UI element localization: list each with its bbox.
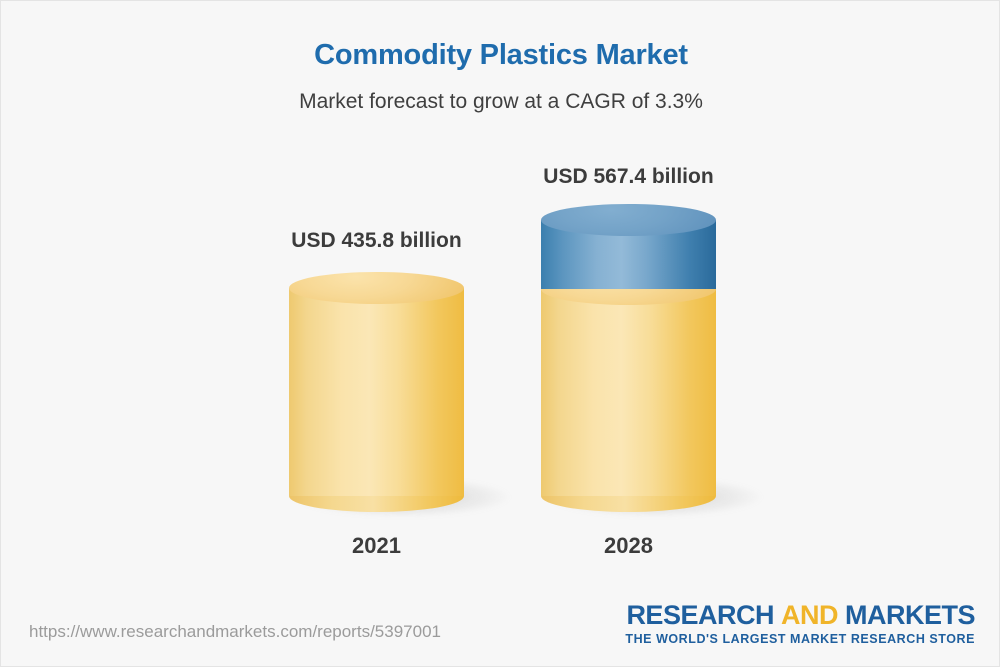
logo-wordmark: RESEARCH AND MARKETS [625,601,975,629]
logo-word-and: AND [781,600,838,630]
logo-word-markets: MARKETS [845,600,975,630]
column-top-ellipse-2028 [541,204,716,236]
column-top-ellipse-2021 [289,272,464,304]
plot-area: USD 435.8 billion 2021 USD 567.4 billion [1,1,1000,591]
report-url[interactable]: https://www.researchandmarkets.com/repor… [29,622,441,642]
logo-tagline: THE WORLD'S LARGEST MARKET RESEARCH STOR… [625,632,975,646]
bar-group-2021: USD 435.8 billion 2021 [289,1,464,591]
chart-canvas: Commodity Plastics Market Market forecas… [0,0,1000,667]
column-body-2021 [289,288,464,496]
logo-word-research: RESEARCH [626,600,774,630]
bar-group-2028: USD 567.4 billion 2028 [541,1,716,591]
value-label-2028: USD 567.4 billion [451,165,806,189]
category-label-2028: 2028 [451,533,806,559]
research-and-markets-logo[interactable]: RESEARCH AND MARKETS THE WORLD'S LARGEST… [625,601,975,646]
column-base-segment-2028 [541,289,716,496]
value-label-2021: USD 435.8 billion [199,229,554,253]
